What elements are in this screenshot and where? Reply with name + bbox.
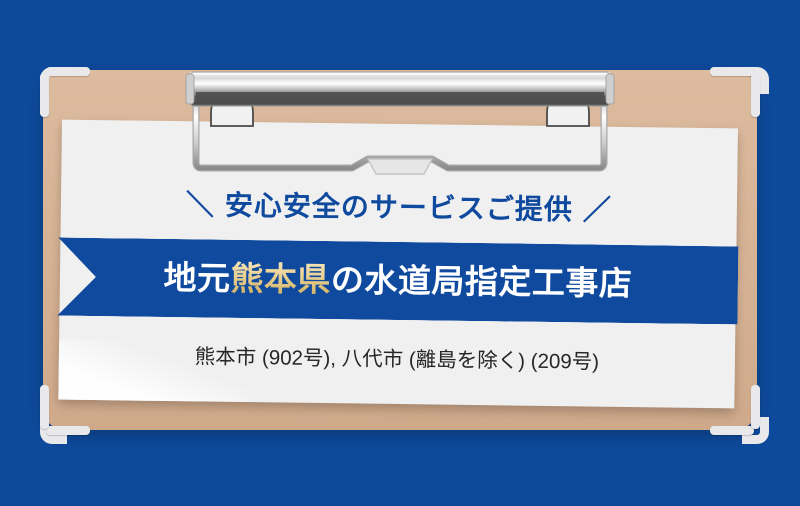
- ribbon-banner: 地元熊本県の水道局指定工事店: [57, 238, 738, 325]
- banner-graphic: ＼安心安全のサービスご提供／ 地元熊本県の水道局指定工事店 熊本市 (902号)…: [0, 0, 800, 506]
- ribbon-prefix: 地元: [163, 259, 230, 297]
- slash-left-icon: ＼: [186, 183, 216, 223]
- ribbon-suffix: の水道局指定工事店: [331, 261, 633, 302]
- paper-content: ＼安心安全のサービスご提供／ 地元熊本県の水道局指定工事店 熊本市 (902号)…: [58, 120, 738, 409]
- slash-right-icon: ／: [583, 188, 613, 228]
- ribbon-text: 地元熊本県の水道局指定工事店: [57, 238, 738, 325]
- headline: ＼安心安全のサービスご提供／: [61, 182, 737, 231]
- headline-text: 安心安全のサービスご提供: [225, 190, 573, 226]
- ribbon-highlight: 熊本県: [230, 260, 331, 298]
- subline: 熊本市 (902号), 八代市 (離島を除く) (209号): [59, 338, 735, 377]
